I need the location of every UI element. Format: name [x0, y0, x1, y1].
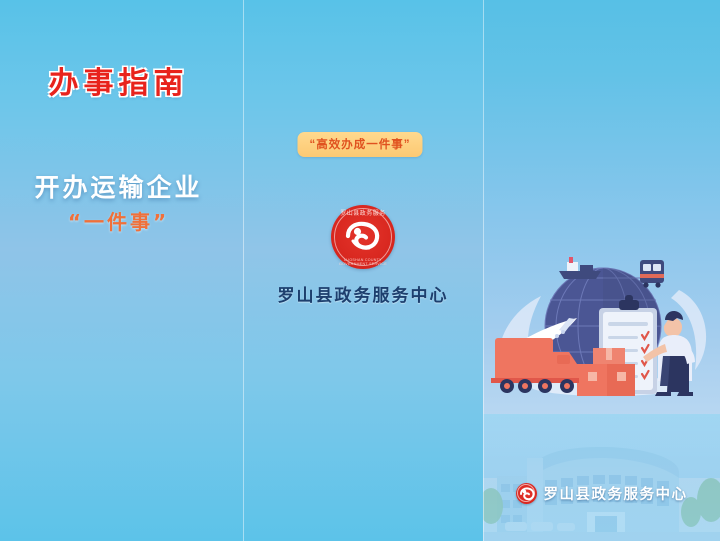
fold-line-right [483, 0, 484, 541]
footer-organization-name: 罗山县政务服务中心 [544, 483, 688, 504]
panel-middle: 罗山县政务服务 LUOSHAN COUNTY GOVERNMENT SERVIC… [243, 0, 483, 541]
seal-english-arc-text: LUOSHAN COUNTY GOVERNMENT SERVICE [331, 258, 395, 266]
footer-brand: 罗山县政务服务中心 [483, 478, 720, 508]
train-icon [640, 260, 664, 288]
seal-inner-ring [517, 484, 535, 502]
government-seal-icon [516, 483, 537, 504]
brochure-cover: 罗山县政务服务 LUOSHAN COUNTY GOVERNMENT SERVIC… [0, 0, 720, 541]
seal-emblem-glyph [344, 220, 382, 254]
fold-line-left [243, 0, 244, 541]
government-seal-icon: 罗山县政务服务 LUOSHAN COUNTY GOVERNMENT SERVIC… [331, 205, 395, 269]
organization-name: 罗山县政务服务中心 [243, 281, 483, 306]
logistics-illustration [483, 252, 720, 412]
page-subtitle: “一件事” [0, 206, 237, 235]
page-heading: 办事指南 [0, 58, 237, 102]
cargo-ship-icon [559, 257, 601, 279]
page-title: 开办运输企业 [0, 168, 237, 204]
organization-brand-block: 罗山县政务服务 LUOSHAN COUNTY GOVERNMENT SERVIC… [243, 205, 483, 306]
slogan-badge: “高效办成一件事” [298, 132, 423, 157]
